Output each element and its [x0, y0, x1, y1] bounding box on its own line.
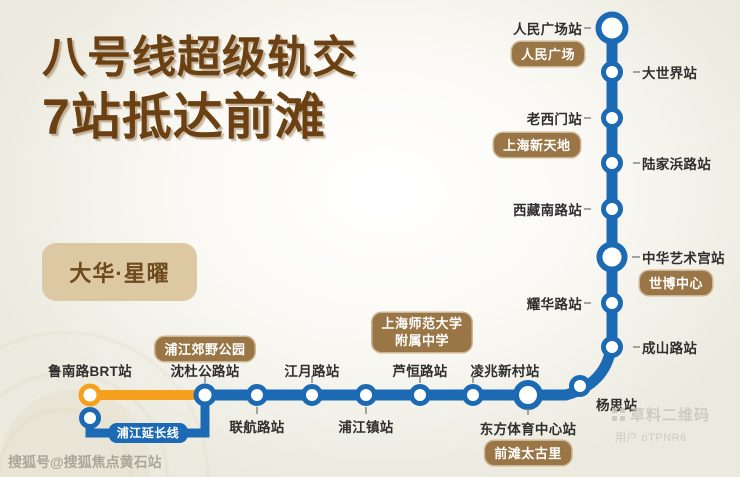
label-connectors	[205, 28, 640, 415]
station-node-yaohua-lu	[604, 295, 621, 312]
station-label-renmin-guangchang: 人民广场站	[513, 18, 582, 38]
station-node-lingzhao-xincun	[465, 387, 482, 404]
station-node-renmin-guangchang	[599, 15, 626, 42]
station-node-dashijie	[604, 64, 621, 81]
poi-tag-pujiang-jiaoye-gongyuan: 浦江郊野公园	[155, 337, 254, 361]
watermark-user: 用户 oTPNR6	[615, 429, 710, 445]
station-node-chengshan-lu	[604, 339, 621, 356]
station-label-yaohua-lu: 耀华路站	[527, 293, 582, 313]
watermark-bottom-left: 搜狐号@搜狐焦点黄石站	[8, 452, 162, 472]
station-node-dongfang-tiyu-zhongxin	[516, 383, 540, 407]
station-node-laoximen	[604, 110, 621, 127]
station-node-jiangyue-lu	[304, 387, 321, 404]
station-label-xizang-nan-lu: 西藏南路站	[513, 199, 582, 219]
station-node-lianhang-lu	[249, 387, 266, 404]
station-node-lujiabang-lu	[604, 155, 621, 172]
watermark-title-row: 草料二维码	[612, 404, 710, 425]
poi-tag-renmin-guangchang: 人民广场	[512, 42, 584, 66]
station-nodes-horizontal	[81, 383, 540, 427]
station-node-yangsi	[572, 378, 589, 395]
station-label-lujiabang-lu: 陆家浜路站	[642, 153, 711, 173]
station-node-pujiangzhen	[358, 387, 375, 404]
watermark-title: 草料二维码	[630, 404, 710, 425]
watermark-bottom-right: 草料二维码 用户 oTPNR6	[612, 404, 710, 445]
station-label-dashijie: 大世界站	[642, 62, 697, 82]
station-label-luheng-lu: 芦恒路站	[392, 360, 447, 380]
station-label-jiangyue-lu: 江月路站	[284, 360, 339, 380]
poi-tag-shibo-zhongxin: 世博中心	[640, 271, 712, 295]
poi-tag-line-2: 附属中学	[381, 332, 462, 349]
station-node-shendu-gonglu	[196, 386, 214, 404]
station-label-lingzhao-xincun: 凌兆新村站	[471, 360, 540, 380]
station-node-pujiang-branch-terminus	[82, 410, 99, 427]
station-node-luheng-lu	[412, 387, 429, 404]
poi-tag-shanghai-shifan-daxue: 上海师范大学 附属中学	[372, 313, 471, 352]
station-label-laoximen: 老西门站	[527, 108, 582, 128]
station-label-shendu-gonglu: 沈杜公路站	[171, 360, 240, 380]
station-label-zhonghua-yishugong: 中华艺术宫站	[642, 247, 725, 267]
station-label-lianhang-lu: 联航路站	[229, 416, 284, 436]
station-node-zhonghua-yishugong	[600, 245, 625, 270]
station-node-xizang-nan-lu	[604, 201, 621, 218]
station-node-lunan-lu-brt	[81, 386, 99, 404]
poi-tag-qiantan-taikooli: 前滩太古里	[485, 441, 571, 465]
branch-line-tag: 浦江延长线	[109, 423, 188, 443]
station-label-chengshan-lu: 成山路站	[642, 337, 697, 357]
poster-canvas: 八号线超级轨交 7站抵达前滩 大华·星曜	[0, 0, 740, 477]
station-label-lunan-lu-brt: 鲁南路BRT站	[48, 360, 132, 380]
qr-code-icon	[612, 408, 625, 421]
poi-tag-line-1: 上海师范大学	[381, 315, 462, 332]
station-label-dongfang-tiyu-zhongxin: 东方体育中心站	[480, 418, 577, 438]
poi-tag-shanghai-xintiandi: 上海新天地	[494, 133, 580, 157]
station-label-pujiangzhen: 浦江镇站	[338, 416, 393, 436]
